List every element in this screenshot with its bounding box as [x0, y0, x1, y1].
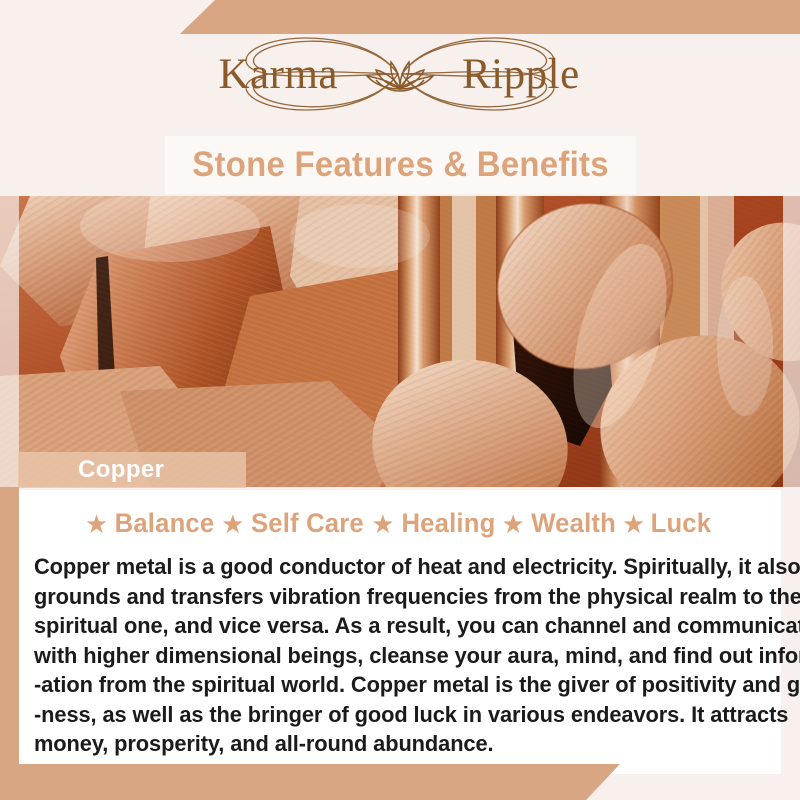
description-line: Copper metal is a good conductor of heat… — [34, 552, 752, 582]
left-accent-strip — [0, 487, 19, 777]
page-title: Stone Features & Benefits — [192, 145, 609, 185]
star-icon: ★ — [502, 511, 525, 537]
logo-word-right: Ripple — [462, 51, 580, 98]
star-icon: ★ — [371, 511, 394, 537]
description-paragraph: Copper metal is a good conductor of heat… — [34, 552, 774, 759]
bottom-accent-band — [0, 764, 620, 800]
star-icon: ★ — [622, 511, 645, 537]
content-card: ★ Balance ★ Self Care ★ Healing ★ Wealth… — [19, 490, 781, 774]
keyword-healing: Healing — [401, 508, 495, 539]
infographic-page: Karma Ripple Stone Features & Benefits — [0, 0, 800, 800]
photo-right-fade — [783, 196, 800, 487]
description-line: -ation from the spiritual world. Copper … — [34, 670, 752, 700]
title-banner: Stone Features & Benefits — [165, 136, 636, 194]
description-line: -ness, as well as the bringer of good lu… — [34, 700, 752, 730]
keyword-luck: Luck — [651, 508, 712, 539]
photo-caption-label: Copper — [78, 456, 164, 484]
keyword-self-care: Self Care — [251, 508, 364, 539]
star-icon: ★ — [221, 511, 244, 537]
description-line: grounds and transfers vibration frequenc… — [34, 582, 752, 612]
copper-photo-artwork — [0, 196, 800, 487]
lotus-icon — [367, 62, 433, 91]
logo-word-left: Karma — [219, 51, 339, 98]
photo-left-fade — [0, 196, 19, 487]
keyword-list: ★ Balance ★ Self Care ★ Healing ★ Wealth… — [19, 508, 781, 539]
description-line: with higher dimensional beings, cleanse … — [34, 641, 752, 671]
photo-caption-band: Copper — [18, 452, 246, 488]
copper-photo — [0, 196, 800, 487]
description-line: spiritual one, and vice versa. As a resu… — [34, 611, 752, 641]
description-line: money, prosperity, and all-round abundan… — [34, 729, 752, 759]
keyword-wealth: Wealth — [531, 508, 616, 539]
brand-logo: Karma Ripple — [0, 26, 800, 122]
keyword-balance: Balance — [115, 508, 215, 539]
logo-artwork: Karma Ripple — [190, 26, 610, 122]
star-icon: ★ — [85, 511, 108, 537]
